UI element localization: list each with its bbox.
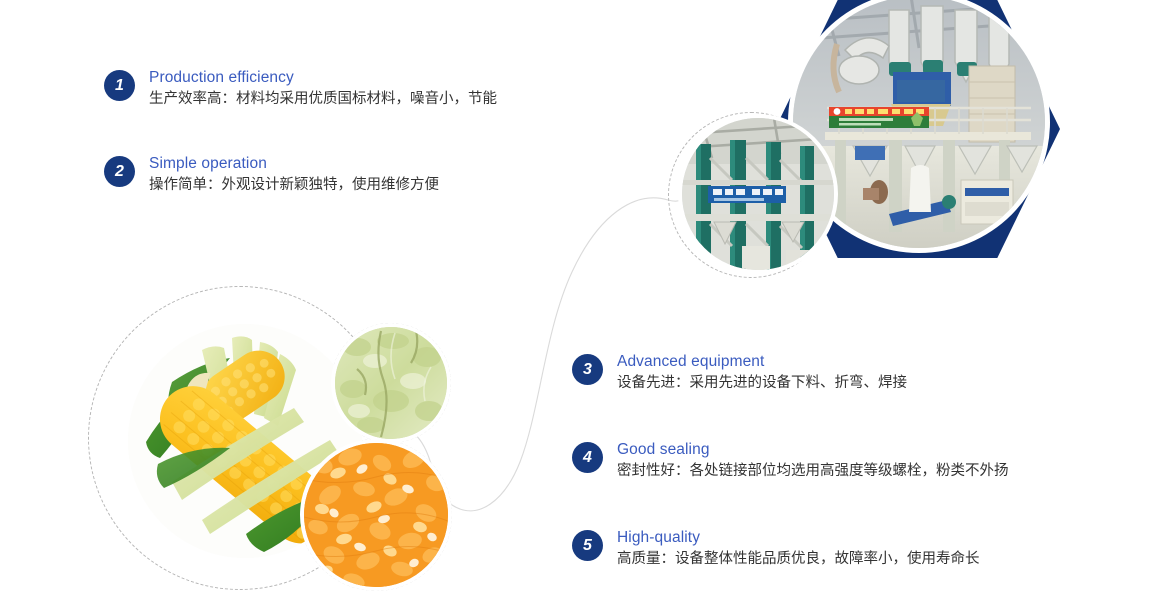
feature-title-4: Good sealing (617, 440, 1009, 459)
infographic-stage: 1 Production efficiency 生产效率高：材料均采用优质国标材… (0, 0, 1154, 591)
feature-description-2: 操作简单：外观设计新颖独特，使用维修方便 (149, 174, 439, 196)
feature-text-3: Advanced equipment 设备先进：采用先进的设备下料、折弯、焊接 (617, 352, 907, 394)
feature-title-3: Advanced equipment (617, 352, 907, 371)
feature-text-1: Production efficiency 生产效率高：材料均采用优质国标材料，… (149, 68, 497, 110)
feature-item-3[interactable]: 3 Advanced equipment 设备先进：采用先进的设备下料、折弯、焊… (572, 352, 1009, 394)
feature-badge-1: 1 (104, 70, 135, 101)
feature-text-2: Simple operation 操作简单：外观设计新颖独特，使用维修方便 (149, 154, 439, 196)
corn-photo-cluster (88, 282, 480, 591)
feature-title-1: Production efficiency (149, 68, 497, 87)
feature-text-5: High-quality 高质量：设备整体性能品质优良，故障率小，使用寿命长 (617, 528, 980, 570)
feature-description-1: 生产效率高：材料均采用优质国标材料，噪音小，节能 (149, 88, 497, 110)
feature-list-left: 1 Production efficiency 生产效率高：材料均采用优质国标材… (104, 68, 497, 196)
corn-paste-photo (335, 327, 447, 439)
feature-item-4[interactable]: 4 Good sealing 密封性好：各处链接部位均选用高强度等级螺栓，粉类不… (572, 440, 1009, 482)
hexagon-photo-cluster (660, 0, 1080, 272)
feature-badge-3: 3 (572, 354, 603, 385)
feature-description-5: 高质量：设备整体性能品质优良，故障率小，使用寿命长 (617, 548, 980, 570)
feature-badge-5: 5 (572, 530, 603, 561)
feature-description-3: 设备先进：采用先进的设备下料、折弯、焊接 (617, 372, 907, 394)
green-milling-machinery-photo (682, 118, 834, 270)
feature-item-2[interactable]: 2 Simple operation 操作简单：外观设计新颖独特，使用维修方便 (104, 154, 497, 196)
feature-badge-4: 4 (572, 442, 603, 473)
feature-item-1[interactable]: 1 Production efficiency 生产效率高：材料均采用优质国标材… (104, 68, 497, 110)
feature-title-2: Simple operation (149, 154, 439, 173)
feature-text-4: Good sealing 密封性好：各处链接部位均选用高强度等级螺栓，粉类不外扬 (617, 440, 1009, 482)
feature-description-4: 密封性好：各处链接部位均选用高强度等级螺栓，粉类不外扬 (617, 460, 1009, 482)
corn-grits-photo (304, 443, 448, 587)
feature-title-5: High-quality (617, 528, 980, 547)
feature-badge-2: 2 (104, 156, 135, 187)
feature-item-5[interactable]: 5 High-quality 高质量：设备整体性能品质优良，故障率小，使用寿命长 (572, 528, 1009, 570)
feature-list-right: 3 Advanced equipment 设备先进：采用先进的设备下料、折弯、焊… (572, 352, 1009, 570)
